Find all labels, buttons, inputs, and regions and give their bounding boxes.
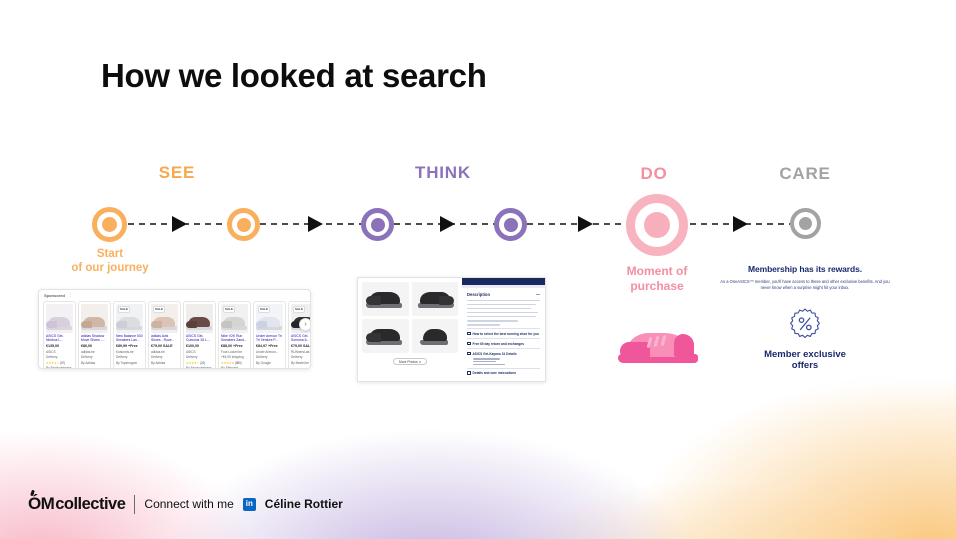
- pink-sneaker-illustration: [618, 320, 700, 366]
- do-caption-line2: purchase: [590, 279, 724, 294]
- product-title[interactable]: adidas Avid Shoes - Roze...: [151, 334, 178, 343]
- sale-badge: SALE: [223, 306, 235, 313]
- journey-node-do[interactable]: [626, 194, 688, 256]
- slide-title: How we looked at search: [101, 57, 487, 95]
- percent-badge-icon: [788, 307, 822, 340]
- description-heading: Description: [467, 292, 490, 297]
- product-title[interactable]: adidas Shadow Move Shoes -...: [81, 334, 108, 343]
- pdp-banner: [462, 278, 545, 285]
- product-image[interactable]: SALE: [116, 304, 143, 333]
- product-seller: By Google: [256, 361, 283, 365]
- journey-node-start[interactable]: [92, 207, 127, 242]
- arrow-marker: [308, 216, 323, 232]
- product-card[interactable]: adidas Shadow Move Shoes -...€86,00adida…: [78, 301, 111, 369]
- product-seller: By Bestel.be: [291, 361, 311, 365]
- product-shipping: Under Armour...: [256, 350, 283, 354]
- sale-badge: SALE: [258, 306, 270, 313]
- product-delivery: Delivery: [186, 355, 213, 359]
- think-screenshot-product-detail[interactable]: More Photos ∨ Description —: [357, 277, 546, 382]
- care-screenshot-membership[interactable]: Membership has its rewards. As a OneASIC…: [710, 258, 900, 380]
- node-core: [102, 217, 117, 232]
- om-collective-logo[interactable]: ÓM collective: [28, 494, 125, 514]
- connect-text: Connect with me: [144, 497, 233, 511]
- product-price: €88,00 +Free: [221, 344, 248, 349]
- arrow-marker: [733, 216, 748, 232]
- pdp-info-panel: Description — How to select the best run…: [462, 278, 545, 381]
- logo-om: ÓM: [28, 494, 54, 514]
- accordion-row[interactable]: Free 60 day return and exchanges: [467, 338, 540, 346]
- product-price: €79,00 SALE: [291, 344, 311, 349]
- product-price: €100,00: [186, 344, 213, 349]
- product-price: €89,99 +Free: [116, 344, 143, 349]
- node-core: [237, 218, 251, 232]
- stage-label-care: CARE: [769, 164, 841, 184]
- more-photos-button[interactable]: More Photos ∨: [393, 358, 427, 365]
- product-card[interactable]: SALENike V2K Run Sneakers Zand...€88,00 …: [218, 301, 251, 369]
- accordion-icon: [467, 352, 471, 356]
- stage-label-do: DO: [618, 164, 690, 184]
- shoe-illustration: [151, 315, 178, 330]
- node-core: [371, 218, 385, 232]
- product-seller: By Adidas: [151, 361, 178, 365]
- product-card[interactable]: SALEASICS Gel-Sonoma 6...€79,00 SALERUNn…: [288, 301, 311, 369]
- node-core: [644, 212, 670, 238]
- text-line: [467, 304, 536, 306]
- accordion-icon: [467, 371, 471, 375]
- shoe-illustration: [186, 315, 213, 330]
- product-rating: ★★★★☆ (67): [46, 361, 73, 365]
- shoe-illustration: [256, 315, 283, 330]
- product-delivery: Delivery: [81, 355, 108, 359]
- journey-node-care[interactable]: [790, 208, 821, 239]
- accordion-row[interactable]: Details and care instructions: [467, 368, 540, 376]
- arrow-marker: [440, 216, 455, 232]
- shoe-illustration: [221, 315, 248, 330]
- product-card[interactable]: SALEUnder Armour Tri Tri Venture P...€84…: [253, 301, 286, 369]
- pdp-description-block: Description — How to select the best run…: [462, 288, 545, 379]
- accordion-bullets: [467, 358, 540, 365]
- product-shipping: ASICS: [186, 350, 213, 354]
- stage-label-see: SEE: [137, 163, 217, 183]
- text-line: [467, 320, 518, 322]
- arrow-marker: [172, 216, 187, 232]
- product-shipping: Kustomis.be: [116, 350, 143, 354]
- product-seller: By Productnieuws: [46, 366, 73, 369]
- product-seller: By Sitepoint: [221, 366, 248, 369]
- product-image[interactable]: SALE: [221, 304, 248, 333]
- node-caption-start: Start of our journey: [40, 247, 180, 276]
- footer-divider: [134, 495, 135, 514]
- product-delivery: +€4,95 shipping: [221, 355, 248, 359]
- presentation-slide: How we looked at search SEE THINK DO CAR…: [0, 0, 956, 539]
- product-card[interactable]: SALENew Balance 530 Sneakers Lau...€89,9…: [113, 301, 146, 369]
- sponsored-bar: Sponsored ⋮: [39, 290, 310, 301]
- product-title[interactable]: ASICS Gel-Nimbus L...: [46, 334, 73, 343]
- person-name: Céline Rottier: [265, 497, 343, 511]
- bullet-line: [473, 358, 500, 359]
- bullet-line: [473, 364, 505, 365]
- product-price: €79,00 SALE: [151, 344, 178, 349]
- product-delivery: Delivery: [256, 355, 283, 359]
- product-price: €86,00: [81, 344, 108, 349]
- start-caption-line1: Start: [40, 247, 180, 261]
- stage-label-think: THINK: [403, 163, 483, 183]
- product-seller: By Productnieuws: [186, 366, 213, 369]
- product-photo[interactable]: [362, 282, 409, 316]
- product-shipping: Foot Locker.be: [221, 350, 248, 354]
- do-caption-line1: Moment of: [590, 264, 724, 279]
- product-price: €84,97 +Free: [256, 344, 283, 349]
- logo-collective: collective: [55, 495, 125, 514]
- product-shipping: adidas.be: [151, 350, 178, 354]
- text-line: [467, 316, 536, 318]
- sale-badge: SALE: [153, 306, 165, 313]
- accordion-label: Free 60 day return and exchanges: [473, 342, 525, 346]
- shoe-heel: [674, 334, 694, 357]
- product-carousel[interactable]: ASICS Gel-Nimbus L...€135,00ASICSDeliver…: [39, 301, 310, 369]
- product-photo[interactable]: [412, 282, 459, 316]
- accordion-label: ASICS Gel-Kayano 31 Details: [473, 352, 517, 356]
- text-line: [467, 312, 538, 314]
- product-shipping: ASICS: [46, 350, 73, 354]
- journey-node-see[interactable]: [227, 208, 260, 241]
- accordion-icon: [467, 332, 471, 336]
- membership-title: Membership has its rewards.: [748, 264, 862, 274]
- node-core: [799, 217, 812, 230]
- node-core: [504, 218, 518, 232]
- product-image[interactable]: [186, 304, 213, 333]
- product-image[interactable]: [81, 304, 108, 333]
- product-title[interactable]: New Balance 530 Sneakers Lau...: [116, 334, 143, 343]
- product-photo[interactable]: [412, 319, 459, 353]
- product-price: €135,00: [46, 344, 73, 349]
- product-title[interactable]: ASICS Gel-Cumulus 26 L...: [186, 334, 213, 343]
- product-card[interactable]: SALEadidas Avid Shoes - Roze...€79,00 SA…: [148, 301, 181, 369]
- description-heading-row[interactable]: Description —: [467, 292, 540, 297]
- accordion-row[interactable]: ASICS Gel-Kayano 31 Details: [467, 348, 540, 356]
- product-title[interactable]: Under Armour Tri Tri Venture P...: [256, 334, 283, 343]
- bullet-line: [473, 361, 496, 362]
- product-photo[interactable]: [362, 319, 409, 353]
- product-shipping: RUNnersLab.be: [291, 350, 311, 354]
- product-image[interactable]: [46, 304, 73, 333]
- product-rating: ★★★★☆ (24): [186, 361, 213, 365]
- product-delivery: Delivery: [46, 355, 73, 359]
- shoe-toe: [620, 342, 650, 359]
- product-delivery: Delivery: [151, 355, 178, 359]
- product-seller: By Topshopper: [116, 361, 143, 365]
- accordion-label: How to select the best running shoe for …: [473, 332, 539, 336]
- pdp-gallery[interactable]: More Photos ∨: [358, 278, 462, 381]
- product-card[interactable]: ASICS Gel-Cumulus 26 L...€100,00ASICSDel…: [183, 301, 216, 369]
- accordion-row[interactable]: How to select the best running shoe for …: [467, 328, 540, 336]
- accordion-label: Details and care instructions: [473, 371, 517, 375]
- product-image[interactable]: SALE: [151, 304, 178, 333]
- product-seller: By Adidas: [81, 361, 108, 365]
- sponsored-label: Sponsored: [44, 293, 65, 298]
- carousel-next-icon[interactable]: ›: [299, 318, 311, 331]
- text-line: [467, 324, 500, 326]
- shoe-illustration: [116, 315, 143, 330]
- linkedin-icon[interactable]: in: [243, 498, 256, 511]
- overflow-menu-icon[interactable]: ⋮: [68, 293, 73, 298]
- product-delivery: Delivery: [291, 355, 311, 359]
- shoe-illustration: [46, 315, 73, 330]
- offer-caption-line2: offers: [764, 360, 846, 372]
- journey-node-think-2[interactable]: [494, 208, 527, 241]
- arrow-marker: [578, 216, 593, 232]
- footer: ÓM collective Connect with me in Céline …: [28, 494, 343, 514]
- sale-badge: SALE: [118, 306, 130, 313]
- pdp-layout: More Photos ∨ Description —: [358, 278, 545, 381]
- product-card[interactable]: ASICS Gel-Nimbus L...€135,00ASICSDeliver…: [43, 301, 76, 369]
- collapse-icon[interactable]: —: [536, 292, 540, 297]
- offer-caption-line1: Member exclusive: [764, 349, 846, 361]
- text-line: [467, 308, 531, 310]
- membership-subtitle: As a OneASICS™ member, you'll have acces…: [715, 279, 895, 291]
- journey-node-think-1[interactable]: [361, 208, 394, 241]
- product-rating: ★★★★★ (880): [221, 361, 248, 365]
- product-title[interactable]: ASICS Gel-Sonoma 6...: [291, 334, 311, 343]
- product-shipping: adidas.be: [81, 350, 108, 354]
- see-screenshot-shopping-results[interactable]: Sponsored ⋮ ASICS Gel-Nimbus L...€135,00…: [38, 289, 311, 369]
- product-image[interactable]: SALE: [256, 304, 283, 333]
- sale-badge: SALE: [293, 306, 305, 313]
- membership-offer-caption: Member exclusive offers: [764, 349, 846, 373]
- start-caption-line2: of our journey: [40, 261, 180, 275]
- text-line: [467, 300, 540, 302]
- product-title[interactable]: Nike V2K Run Sneakers Zand...: [221, 334, 248, 343]
- membership-offer-panel[interactable]: Member exclusive offers: [761, 300, 849, 372]
- shoe-illustration: [81, 315, 108, 330]
- node-caption-do: Moment of purchase: [590, 264, 724, 294]
- product-delivery: Delivery: [116, 355, 143, 359]
- accordion-icon: [467, 342, 471, 346]
